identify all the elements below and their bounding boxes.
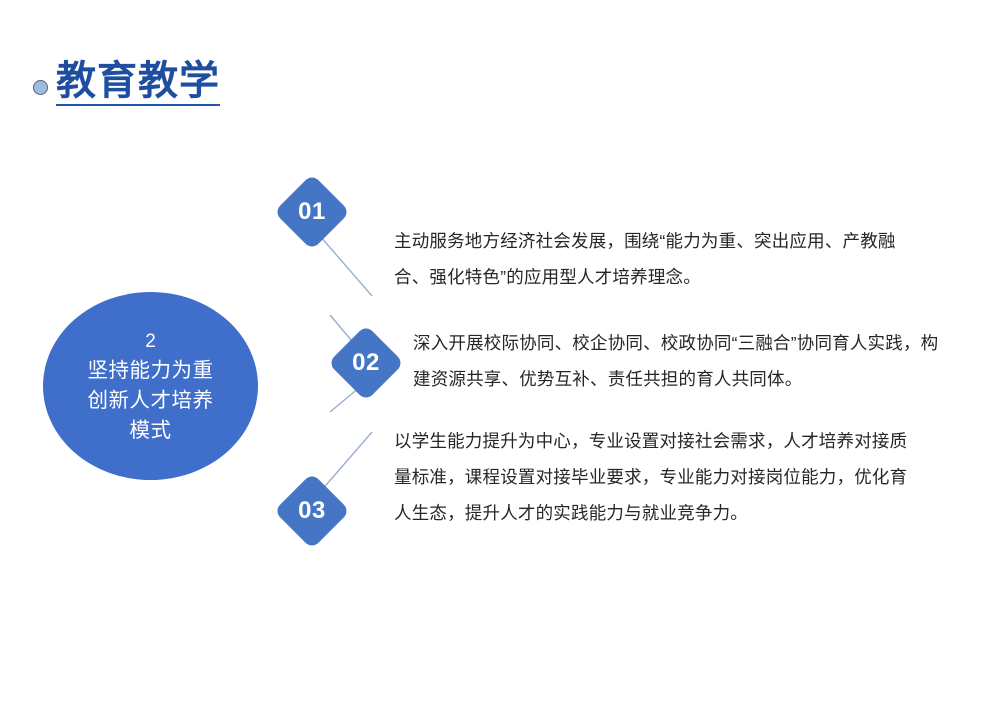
item-text-03: 以学生能力提升为中心，专业设置对接社会需求，人才培养对接质量标准，课程设置对接毕… [394,424,914,532]
slide-canvas: 教育教学 [0,0,1000,707]
page-title-label: 教育教学 [56,60,220,106]
badge-label-03[interactable]: 03 [285,484,339,538]
center-circle: 2 坚持能力为重 创新人才培养 模式 [43,292,258,480]
badge-label-01[interactable]: 01 [285,185,339,239]
center-circle-line-1: 坚持能力为重 [88,356,214,386]
center-circle-number: 2 [145,327,156,356]
circle-bullet-icon [33,80,48,95]
center-circle-line-3: 模式 [130,416,172,446]
center-circle-line-2: 创新人才培养 [88,386,214,416]
page-title: 教育教学 [33,60,220,106]
badge-label-02[interactable]: 02 [339,336,393,390]
item-text-01: 主动服务地方经济社会发展，围绕“能力为重、突出应用、产教融合、强化特色”的应用型… [394,224,924,296]
item-text-02: 深入开展校际协同、校企协同、校政协同“三融合”协同育人实践，构建资源共享、优势互… [413,326,943,398]
